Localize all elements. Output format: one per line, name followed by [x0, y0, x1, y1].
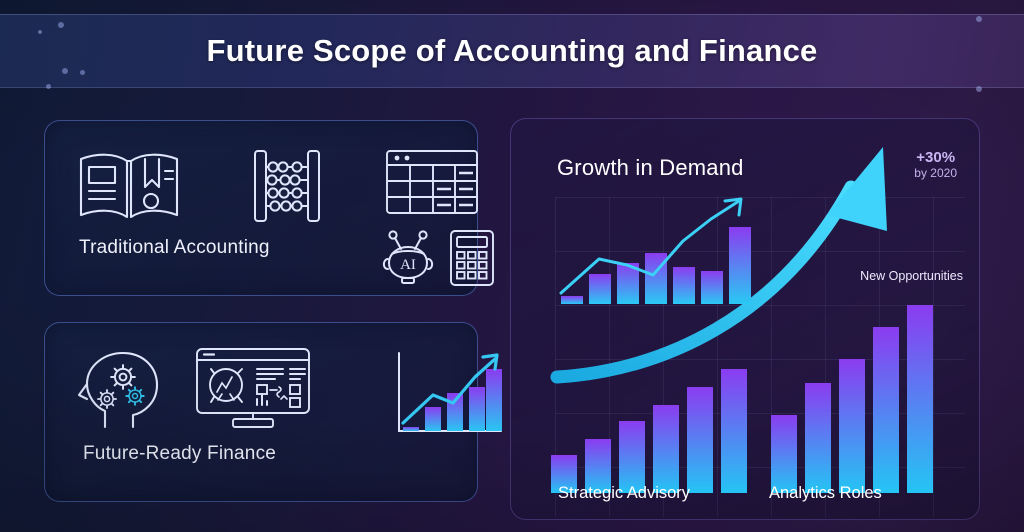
header-decor-dot [46, 84, 51, 89]
card-traditional-accounting[interactable]: AI Traditional Accounting [44, 120, 478, 296]
ai-robot-icon: AI [379, 229, 437, 285]
page-title: Future Scope of Accounting and Finance [207, 33, 818, 69]
card-label-future-ready: Future-Ready Finance [83, 443, 276, 465]
card-future-ready-finance[interactable]: Future-Ready Finance [44, 322, 478, 502]
header-decor-dot [976, 16, 982, 22]
growth-badge-sub: by 2020 [914, 166, 957, 180]
header-decor-dot [976, 86, 982, 92]
infographic-canvas: Future Scope of Accounting and Finance [0, 0, 1024, 532]
abacus-icon [251, 147, 323, 225]
open-book-icon [75, 147, 183, 225]
card-label-traditional: Traditional Accounting [79, 237, 270, 259]
spreadsheet-icon [385, 149, 479, 215]
header-decor-dot [62, 68, 68, 74]
group-label-strategic-advisory: Strategic Advisory [558, 484, 690, 503]
new-opportunities-annotation: New Opportunities [860, 269, 963, 283]
header-decor-dot [58, 22, 64, 28]
header-decor-dot [80, 70, 85, 75]
growth-panel-title: Growth in Demand [557, 155, 744, 181]
header-banner: Future Scope of Accounting and Finance [0, 14, 1024, 88]
bar-chart-arrow-icon [389, 347, 507, 439]
head-gears-icon [77, 349, 169, 429]
growth-badge-value: +30% [914, 149, 957, 166]
inset-demand-chart [555, 197, 755, 307]
robot-ai-label: AI [400, 257, 416, 273]
growth-badge: +30% by 2020 [914, 149, 957, 181]
panel-growth-in-demand[interactable]: Growth in Demand +30% by 2020 New Opport… [510, 118, 980, 520]
header-decor-dot [38, 30, 42, 34]
dashboard-monitor-icon [195, 347, 311, 431]
calculator-icon [449, 229, 495, 287]
group-label-analytics-roles: Analytics Roles [769, 484, 882, 503]
